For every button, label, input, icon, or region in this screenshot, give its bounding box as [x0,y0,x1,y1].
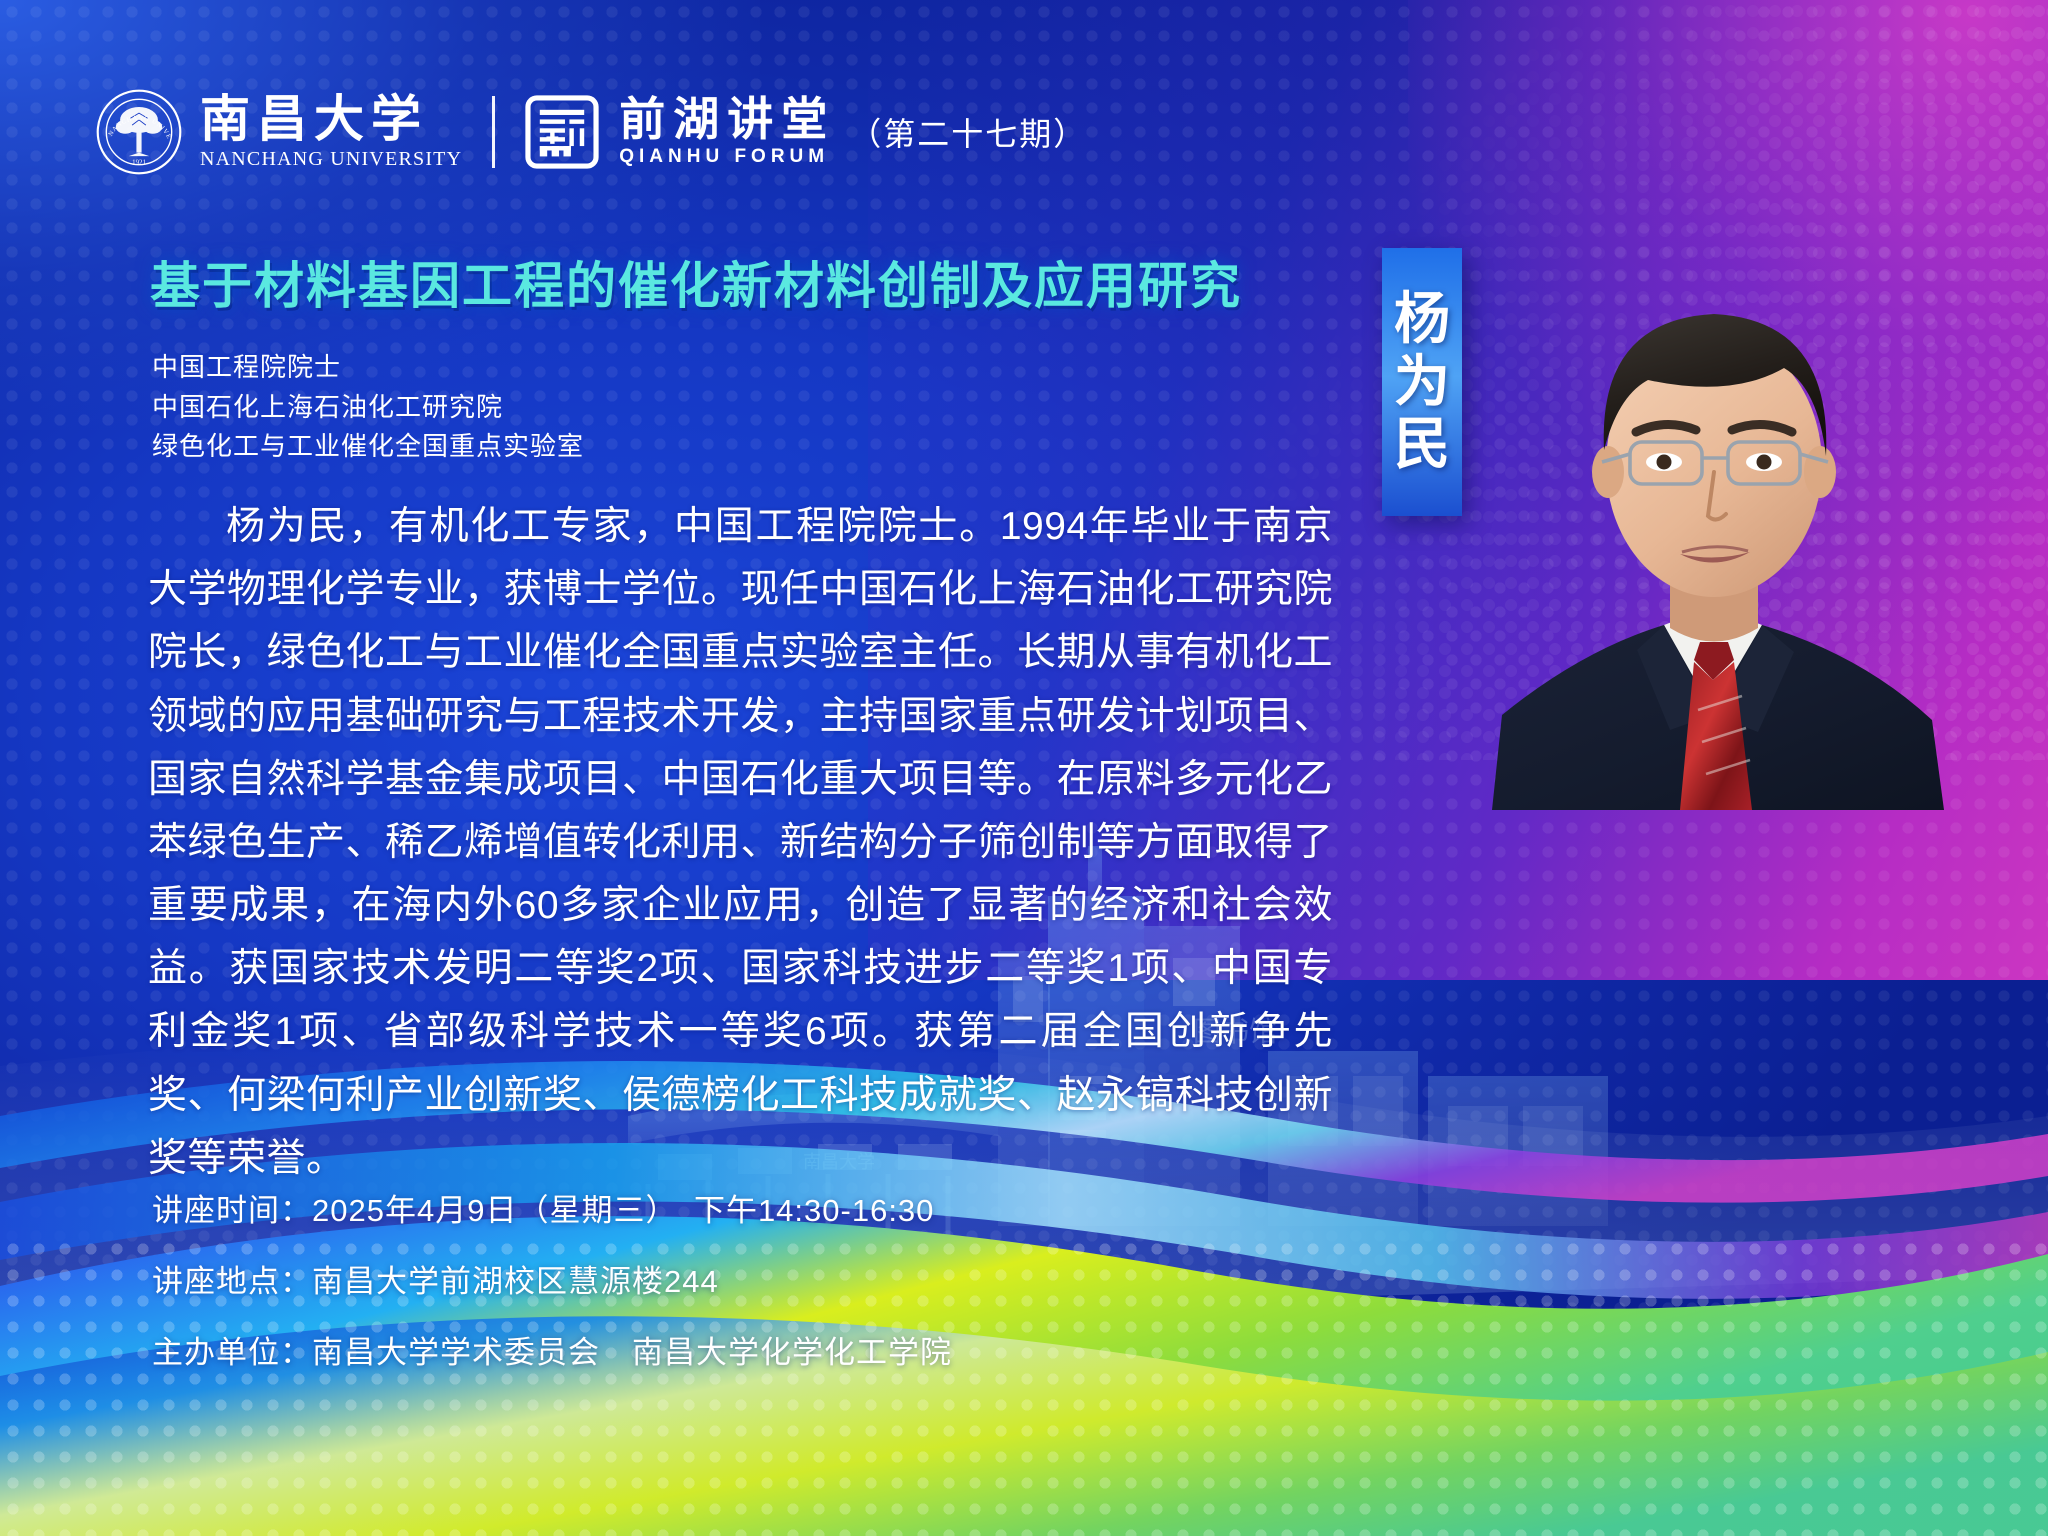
affiliation-line: 中国工程院院士 [152,348,852,388]
header-divider [492,96,495,168]
lecture-title: 基于材料基因工程的催化新材料创制及应用研究 [150,246,1330,318]
poster-header: NANCHANG UNIVERSITY 1921 南昌大学 NANCHANG U… [96,86,1087,178]
university-crest-icon: NANCHANG UNIVERSITY 1921 [96,89,182,175]
qianhu-forum-seal-icon [525,95,599,169]
speaker-portrait [1432,210,1992,810]
lecture-info: 讲座时间：2025年4月9日（星期三） 下午14:30-16:30 讲座地点：南… [152,1185,1152,1398]
lecture-poster: 图书馆 南昌大学 [0,0,2048,1536]
forum-issue-number: （第二十七期） [849,109,1087,155]
forum-name-block: 前湖讲堂 QIANHU FORUM [619,96,835,168]
forum-name-cn: 前湖讲堂 [619,96,835,144]
crest-year: 1921 [132,160,146,167]
affiliation-line: 绿色化工与工业催化全国重点实验室 [152,427,852,467]
lecture-time: 讲座时间：2025年4月9日（星期三） 下午14:30-16:30 [152,1185,1152,1230]
affiliation-line: 中国石化上海石油化工研究院 [152,388,852,428]
speaker-biography: 杨为民，有机化工专家，中国工程院院士。1994年毕业于南京大学物理化学专业，获博… [148,495,1333,1190]
biography-text: 杨为民，有机化工专家，中国工程院院士。1994年毕业于南京大学物理化学专业，获博… [148,495,1333,1190]
university-name-block: 南昌大学 NANCHANG UNIVERSITY [200,94,462,171]
lecture-host: 主办单位：南昌大学学术委员会 南昌大学化学化工学院 [152,1327,1152,1372]
speaker-affiliations: 中国工程院院士 中国石化上海石油化工研究院 绿色化工与工业催化全国重点实验室 [152,348,852,467]
forum-name-en: QIANHU FORUM [619,146,835,168]
university-name-en: NANCHANG UNIVERSITY [200,148,462,171]
university-name-cn: 南昌大学 [200,94,462,145]
lecture-place: 讲座地点：南昌大学前湖校区慧源楼244 [152,1256,1152,1301]
